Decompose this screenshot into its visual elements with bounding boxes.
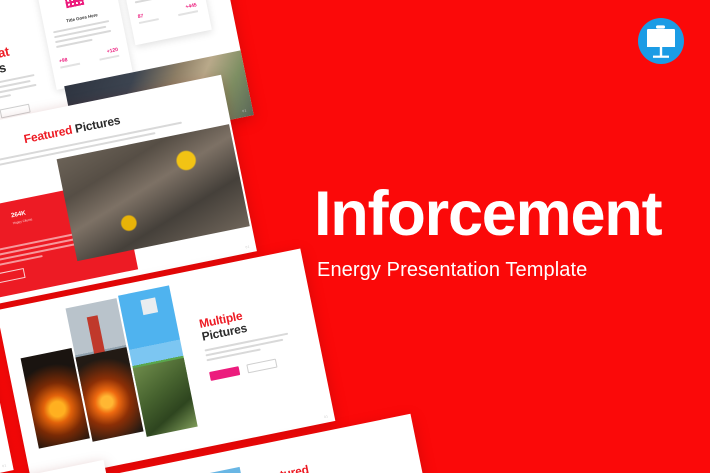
title-block: Inforcement Energy Presentation Template xyxy=(314,183,706,282)
card-stat-b: +120 xyxy=(106,47,118,55)
feature-card[interactable]: Title Goes Here 87 +445 xyxy=(112,0,212,45)
page-number: 01 xyxy=(2,463,7,468)
slide-heading: Featured Pictures xyxy=(259,446,396,473)
factory-icon xyxy=(64,0,84,8)
poster-canvas: Our Great Features Title Goes Here + xyxy=(0,0,710,473)
card-stat-a: 87 xyxy=(137,13,144,20)
secondary-button[interactable] xyxy=(247,358,278,373)
page-title: Inforcement xyxy=(314,183,706,246)
page-number: 01 xyxy=(245,245,250,250)
secondary-button[interactable] xyxy=(0,268,26,283)
card-stat-b: +445 xyxy=(185,2,197,10)
keynote-presentation-icon[interactable] xyxy=(637,17,685,65)
photo-mining-truck xyxy=(155,467,262,473)
primary-button[interactable] xyxy=(209,366,240,381)
page-subtitle: Energy Presentation Template xyxy=(317,259,706,282)
photo-forest-waterfall xyxy=(133,358,198,437)
card-stat-a: +98 xyxy=(59,57,69,65)
stat-item: 264K Happy Clients xyxy=(11,209,33,226)
page-number: 01 xyxy=(242,108,247,113)
page-number: 01 xyxy=(324,414,329,419)
